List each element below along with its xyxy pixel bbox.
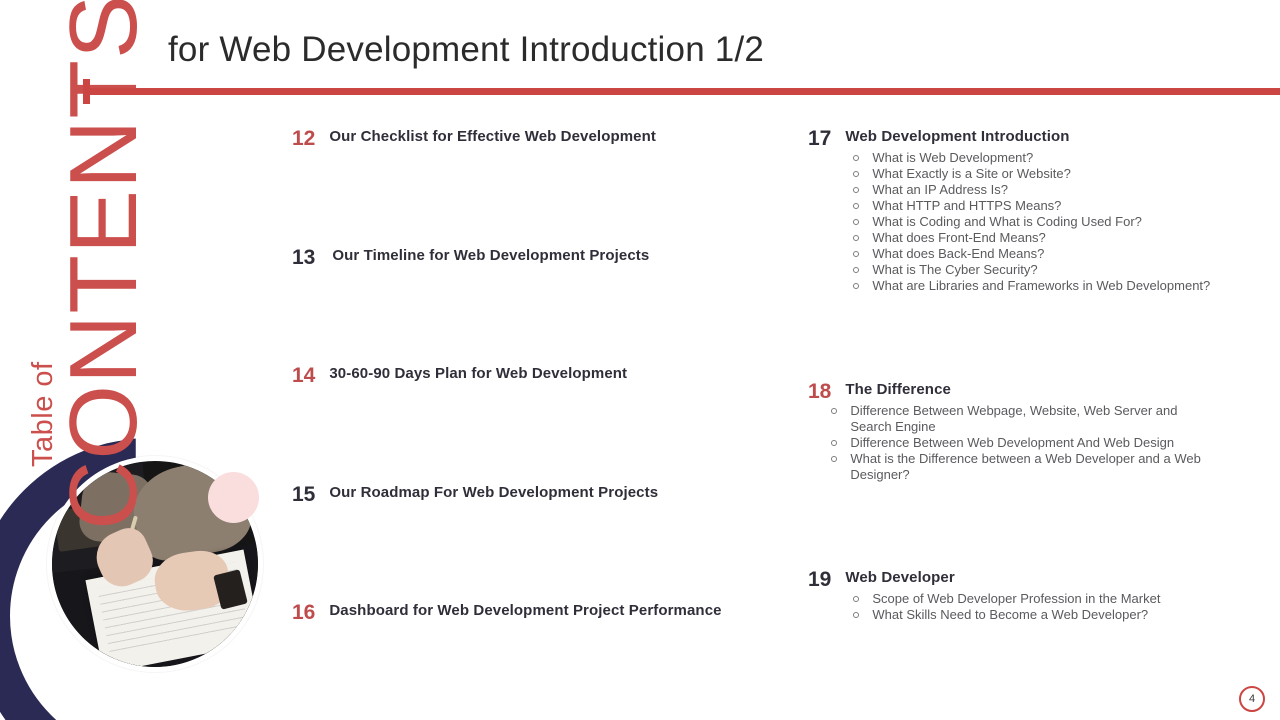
toc-entry[interactable]: 17Web Development IntroductionWhat is We… [808,128,1210,294]
toc-sub-item[interactable]: Difference Between Webpage, Website, Web… [828,403,1205,435]
toc-entry-body: Our Roadmap For Web Development Projects [329,484,658,502]
side-title-big: CONTENTS [56,0,152,530]
toc-sub-list: Scope of Web Developer Profession in the… [850,591,1160,623]
toc-entry[interactable]: 1430-60-90 Days Plan for Web Development [292,365,627,387]
toc-sub-list: What is Web Development?What Exactly is … [850,150,1210,294]
toc-entry-number: 12 [292,128,315,150]
side-title-group: Table of CONTENTS [0,0,180,460]
toc-sub-item-label: What is Coding and What is Coding Used F… [872,214,1142,229]
circle-bullet-icon [831,440,837,446]
toc-entry-title[interactable]: Dashboard for Web Development Project Pe… [329,602,721,620]
toc-sub-item[interactable]: What are Libraries and Frameworks in Web… [850,278,1210,294]
toc-entry-body: Dashboard for Web Development Project Pe… [329,602,721,620]
toc-entry-number: 15 [292,484,315,506]
circle-bullet-icon [853,251,859,257]
toc-sub-item[interactable]: What Skills Need to Become a Web Develop… [850,607,1160,623]
toc-sub-item-label: What is Web Development? [872,150,1033,165]
toc-sub-item-label: Difference Between Webpage, Website, Web… [850,403,1177,434]
toc-sub-item[interactable]: What is The Cyber Security? [850,262,1210,278]
toc-sub-item-label: Difference Between Web Development And W… [850,435,1174,450]
toc-sub-list: Difference Between Webpage, Website, Web… [828,403,1205,483]
toc-sub-item-label: What an IP Address Is? [872,182,1008,197]
circle-bullet-icon [853,219,859,225]
page-title: for Web Development Introduction 1/2 [168,30,764,70]
toc-sub-item[interactable]: What is Web Development? [850,150,1210,166]
toc-sub-item-label: What HTTP and HTTPS Means? [872,198,1061,213]
circle-bullet-icon [853,267,859,273]
circle-bullet-icon [853,235,859,241]
circle-bullet-icon [853,203,859,209]
toc-entry-number: 13 [292,247,315,269]
toc-entry-title[interactable]: Web Developer [845,569,1160,587]
toc-entry-body: Our Checklist for Effective Web Developm… [329,128,656,146]
toc-entry-number: 17 [808,128,831,150]
circle-bullet-icon [831,408,837,414]
toc-entry[interactable]: 18The DifferenceDifference Between Webpa… [808,381,1205,483]
toc-sub-item-label: What are Libraries and Frameworks in Web… [872,278,1210,293]
circle-bullet-icon [853,612,859,618]
circle-bullet-icon [853,283,859,289]
toc-sub-item-label: What is The Cyber Security? [872,262,1037,277]
circle-bullet-icon [853,596,859,602]
toc-entry-title[interactable]: 30-60-90 Days Plan for Web Development [329,365,627,383]
toc-sub-item[interactable]: What Exactly is a Site or Website? [850,166,1210,182]
toc-sub-item[interactable]: What is the Difference between a Web Dev… [828,451,1205,483]
title-rule [83,88,1280,95]
toc-sub-item[interactable]: Difference Between Web Development And W… [828,435,1205,451]
toc-entry[interactable]: 16Dashboard for Web Development Project … [292,602,722,624]
toc-entry-body: 30-60-90 Days Plan for Web Development [329,365,627,383]
toc-entry-title[interactable]: The Difference [845,381,1205,399]
toc-sub-item[interactable]: What is Coding and What is Coding Used F… [850,214,1210,230]
toc-entry[interactable]: 12Our Checklist for Effective Web Develo… [292,128,656,150]
toc-sub-item-label: What is the Difference between a Web Dev… [850,451,1200,482]
circle-bullet-icon [853,155,859,161]
toc-sub-item-label: What Skills Need to Become a Web Develop… [872,607,1148,622]
circle-bullet-icon [853,187,859,193]
toc-entry-body: Web DeveloperScope of Web Developer Prof… [845,569,1160,623]
toc-entry-title[interactable]: Web Development Introduction [845,128,1210,146]
toc-entry[interactable]: 19Web DeveloperScope of Web Developer Pr… [808,569,1160,623]
toc-entry-number: 14 [292,365,315,387]
slide-root: Table of CONTENTS for Web Development In… [0,0,1280,720]
toc-entry-body: The DifferenceDifference Between Webpage… [845,381,1205,483]
toc-sub-item[interactable]: What HTTP and HTTPS Means? [850,198,1210,214]
toc-entry[interactable]: 13Our Timeline for Web Development Proje… [292,247,649,269]
toc-entry-number: 19 [808,569,831,591]
toc-entry-number: 18 [808,381,831,403]
toc-sub-item-label: Scope of Web Developer Profession in the… [872,591,1160,606]
circle-bullet-icon [853,171,859,177]
toc-sub-item[interactable]: What does Back-End Means? [850,246,1210,262]
toc-entry-title[interactable]: Our Timeline for Web Development Project… [332,247,649,265]
toc-entry-body: Our Timeline for Web Development Project… [332,247,649,265]
toc-entry[interactable]: 15Our Roadmap For Web Development Projec… [292,484,658,506]
page-number-badge: 4 [1239,686,1265,712]
toc-sub-item-label: What does Front-End Means? [872,230,1045,245]
toc-sub-item[interactable]: What does Front-End Means? [850,230,1210,246]
circle-bullet-icon [831,456,837,462]
toc-sub-item-label: What does Back-End Means? [872,246,1044,261]
toc-entry-number: 16 [292,602,315,624]
toc-sub-item[interactable]: What an IP Address Is? [850,182,1210,198]
toc-sub-item[interactable]: Scope of Web Developer Profession in the… [850,591,1160,607]
toc-sub-item-label: What Exactly is a Site or Website? [872,166,1070,181]
toc-entry-title[interactable]: Our Roadmap For Web Development Projects [329,484,658,502]
toc-entry-title[interactable]: Our Checklist for Effective Web Developm… [329,128,656,146]
toc-entry-body: Web Development IntroductionWhat is Web … [845,128,1210,294]
pink-circle-accent [208,472,259,523]
